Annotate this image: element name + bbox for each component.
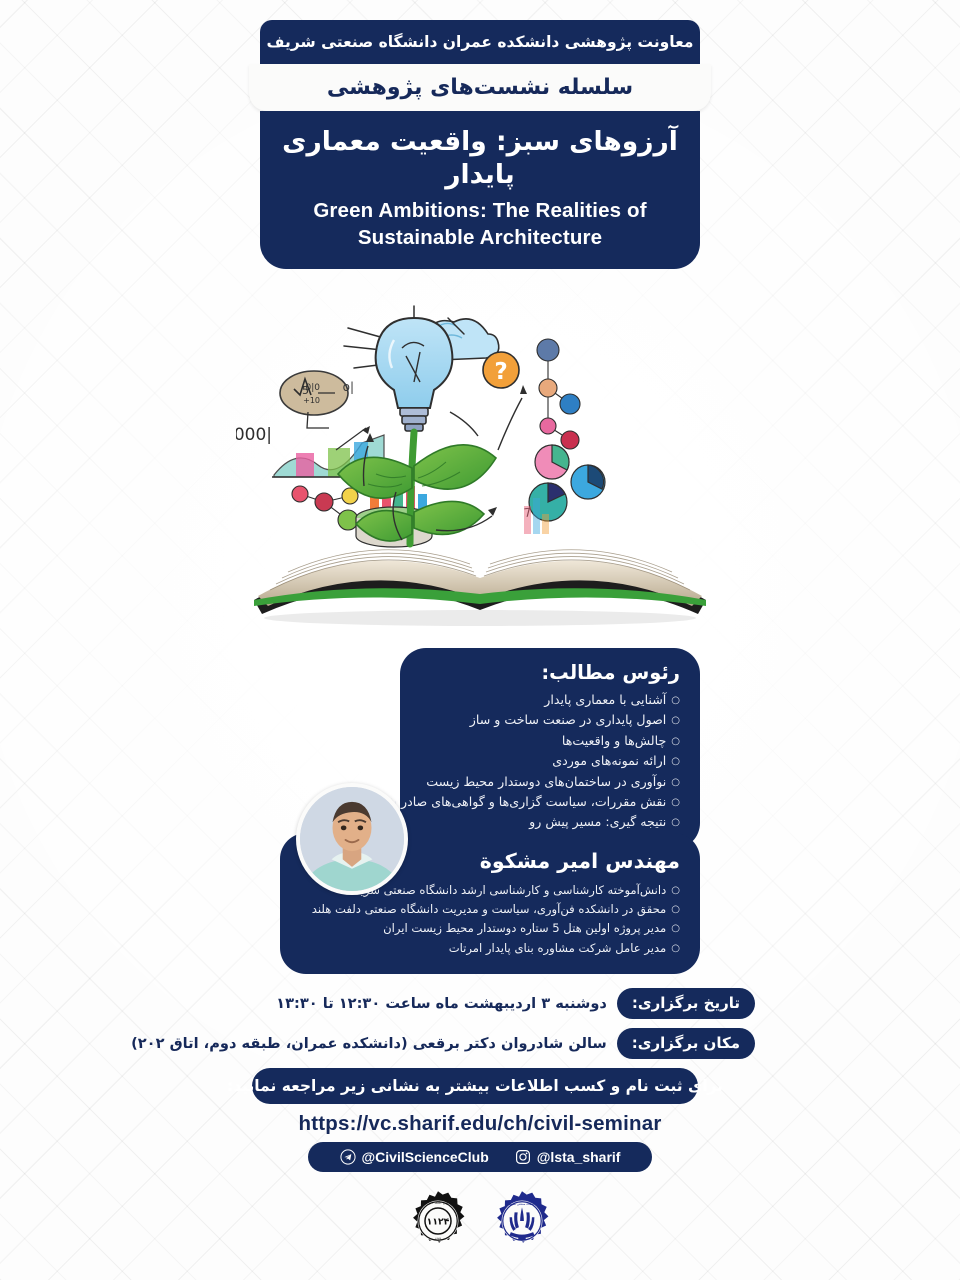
venue-value: سالن شادروان دکتر برقعی (دانشکده عمران، … [131,1035,607,1052]
bullet-circle-icon: ○ [671,693,680,709]
open-book-icon [254,550,706,626]
topic-item-label: چالش‌ها و واقعیت‌ها [562,733,666,748]
telegram-link[interactable]: @CivilScienceClub [340,1149,489,1165]
question-mark-icon: ? [483,352,519,388]
pie-charts-sketch [529,445,605,521]
svg-text:دانشگاه صنعتی شریف: دانشگاه صنعتی شریف [507,1202,537,1206]
credential-item: ○محقق در دانشکده فن‌آوری، سیاست و مدیریت… [360,900,680,919]
topics-card: رئوس مطالب: ○آشنایی با معماری پایدار○اصو… [400,648,700,849]
credential-item: ○مدیر پروژه اولین هتل 5 ستاره دوستدار مح… [360,919,680,938]
credential-item: ○مدیر عامل شرکت مشاوره بنای پایدار امرتا… [360,939,680,958]
title-persian: آرزوهای سبز: واقعیت معماری پایدار [278,125,682,191]
topic-item-label: آشنایی با معماری پایدار [544,692,666,707]
svg-text:?: ? [494,359,507,385]
venue-label: مکان برگزاری: [617,1028,755,1059]
series-band: سلسله نشست‌های پژوهشی [249,64,711,111]
date-row: تاریخ برگزاری: دوشنبه ۳ اردیبهشت ماه ساع… [276,988,755,1019]
speaker-name: مهندس امیر مشکوة [360,849,680,873]
poster-header: معاونت پژوهشی دانشکده عمران دانشگاه صنعت… [0,20,960,269]
bullet-circle-icon: ○ [671,713,680,729]
bullet-circle-icon: ○ [671,883,680,900]
bullet-circle-icon: ○ [671,902,680,919]
svg-text:10+: 10+ [303,396,320,405]
venue-row: مکان برگزاری: سالن شادروان دکتر برقعی (د… [131,1028,755,1059]
instagram-handle: @lsta_sharif [537,1149,621,1165]
topic-item-label: نقش مقررات، سیاست گزاری‌ها و گواهی‌های ص… [373,794,666,809]
svg-text:۱۳۷۹: ۱۳۷۹ [435,1237,441,1241]
poster-canvas: معاونت پژوهشی دانشکده عمران دانشگاه صنعت… [0,0,960,1280]
lightbulb-icon [376,318,453,431]
title-block: آرزوهای سبز: واقعیت معماری پایدار Green … [260,111,700,269]
social-links-bar: @CivilScienceClub @lsta_sharif [308,1142,652,1172]
topic-item: ○نقش مقررات، سیاست گزاری‌ها و گواهی‌های … [420,792,680,812]
topics-heading: رئوس مطالب: [420,661,680,684]
credential-item: ○دانش‌آموخته کارشناسی و کارشناسی ارشد دا… [360,881,680,900]
formula-bubble-icon: 5 0|0 10+ |o [280,371,354,428]
registration-banner: برای ثبت نام و کسب اطلاعات بیشتر به نشان… [252,1068,698,1104]
svg-text:0|0: 0|0 [305,383,320,393]
topic-item-label: ارائه نمونه‌های موردی [552,753,666,768]
svg-text:انجمن علمی عمران: انجمن علمی عمران [425,1201,451,1205]
topic-item-label: نتیجه گیری: مسیر پیش رو [529,814,666,829]
network-nodes-left [292,486,358,530]
civil-science-club-logo: ۱۱۲۴ انجمن علمی عمران ۱۳۷۹ [407,1190,469,1252]
date-label: تاریخ برگزاری: [617,988,755,1019]
bullet-circle-icon: ○ [671,754,680,770]
label-10000: |0,000 [236,425,272,445]
instagram-link[interactable]: @lsta_sharif [515,1149,621,1165]
topic-item: ○نوآوری در ساختمان‌های دوستدار محیط زیست [420,772,680,792]
bullet-circle-icon: ○ [671,941,680,958]
topic-item: ○اصول پایداری در صنعت ساخت و ساز [420,710,680,730]
telegram-icon [340,1149,356,1165]
telegram-handle: @CivilScienceClub [362,1149,489,1165]
instagram-icon [515,1149,531,1165]
credential-item-label: دانش‌آموخته کارشناسی و کارشناسی ارشد دان… [349,883,667,897]
network-nodes-right [537,339,580,449]
topic-item: ○چالش‌ها و واقعیت‌ها [420,731,680,751]
footer-logos: دانشگاه صنعتی شریف ۱۱۲۴ انجمن علمی عمران… [0,1190,960,1252]
topic-item-label: نوآوری در ساختمان‌های دوستدار محیط زیست [426,774,666,789]
bullet-circle-icon: ○ [671,795,680,811]
title-english-line1: Green Ambitions: The Realities of [313,197,646,224]
organizer-text: معاونت پژوهشی دانشکده عمران دانشگاه صنعت… [267,33,694,51]
bullet-circle-icon: ○ [671,775,680,791]
svg-text:|o: |o [343,380,354,394]
open-book-idea-growth-illustration: 5 0|0 10+ |o |0,000 70,000 [236,290,724,630]
speaker-avatar [296,783,408,895]
topic-item-label: اصول پایداری در صنعت ساخت و ساز [470,712,666,727]
topic-item: ○ارائه نمونه‌های موردی [420,751,680,771]
credential-item-label: مدیر پروژه اولین هتل 5 ستاره دوستدار محی… [383,921,666,935]
seminar-url-link[interactable]: https://vc.sharif.edu/ch/civil-seminar [0,1112,960,1136]
date-value: دوشنبه ۳ اردیبهشت ماه ساعت ۱۲:۳۰ تا ۱۳:۳… [276,995,607,1012]
svg-text:۱۱۲۴: ۱۱۲۴ [427,1217,450,1228]
bullet-circle-icon: ○ [671,921,680,938]
bullet-circle-icon: ○ [671,815,680,831]
topic-item: ○نتیجه گیری: مسیر پیش رو [420,812,680,832]
credential-item-label: محقق در دانشکده فن‌آوری، سیاست و مدیریت … [312,902,666,916]
speaker-credentials-list: ○دانش‌آموخته کارشناسی و کارشناسی ارشد دا… [360,881,680,958]
organizer-bar: معاونت پژوهشی دانشکده عمران دانشگاه صنعت… [260,20,700,64]
series-text: سلسله نشست‌های پژوهشی [327,75,633,100]
registration-banner-text: برای ثبت نام و کسب اطلاعات بیشتر به نشان… [227,1077,723,1095]
credential-item-label: مدیر عامل شرکت مشاوره بنای پایدار امرتات [449,941,667,955]
title-english-line2: Sustainable Architecture [313,224,646,251]
topic-item: ○آشنایی با معماری پایدار [420,690,680,710]
sharif-university-logo: دانشگاه صنعتی شریف [491,1190,553,1252]
bullet-circle-icon: ○ [671,734,680,750]
topics-list: ○آشنایی با معماری پایدار○اصول پایداری در… [420,690,680,833]
